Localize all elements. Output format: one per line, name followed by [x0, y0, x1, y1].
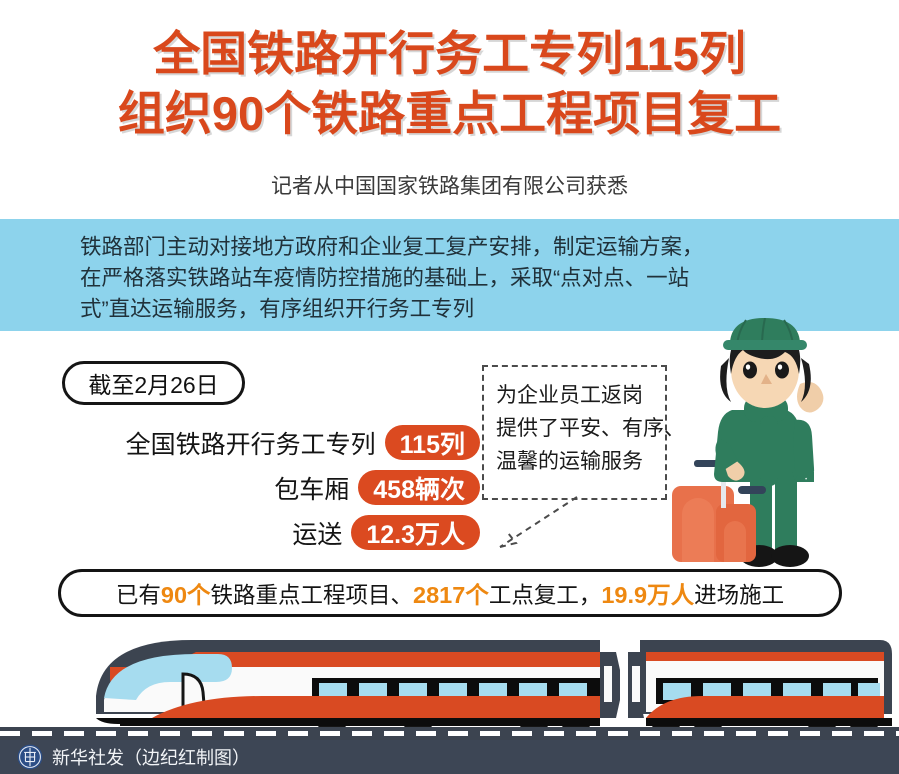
- train-svg: [0, 630, 899, 740]
- page-subtitle: 记者从中国国家铁路集团有限公司获悉: [0, 172, 899, 202]
- stat-row: 全国铁路开行务工专列 115列: [60, 420, 480, 465]
- infographic-poster: 全国铁路开行务工专列115列 组织90个铁路重点工程项目复工 记者从中国国家铁路…: [0, 0, 899, 774]
- footer-credit: 新华社发（边纪红制图）: [52, 744, 250, 770]
- footer-bar: 新华社发（边纪红制图）: [0, 740, 899, 774]
- speech-bubble: 为企业员工返岗 提供了平安、有序、 温馨的运输服务: [482, 365, 667, 500]
- as-of-date-label: 截至2月26日: [88, 366, 218, 400]
- result-highlight-value: 2817个: [413, 582, 489, 608]
- results-summary-text: 已有90个铁路重点工程项目、2817个工点复工，19.9万人进场施工: [116, 576, 784, 610]
- intro-line-1: 铁路部门主动对接地方政府和企业复工复产安排，制定运输方案，: [80, 232, 860, 263]
- result-highlight-value: 90个: [161, 582, 211, 608]
- result-text-segment: 工点复工，: [489, 583, 602, 608]
- bubble-line-3: 温馨的运输服务: [496, 445, 685, 478]
- stat-value-badge: 115列: [385, 425, 480, 460]
- track-dashes: [0, 731, 899, 736]
- stat-label: 全国铁路开行务工专列: [126, 425, 376, 461]
- stat-value-badge: 12.3万人: [351, 515, 480, 550]
- stat-value-badge: 458辆次: [358, 470, 480, 505]
- traveler-illustration: [660, 318, 899, 570]
- intro-band: 铁路部门主动对接地方政府和企业复工复产安排，制定运输方案， 在严格落实铁路站车疫…: [0, 219, 899, 331]
- speech-bubble-tail-icon: [482, 495, 602, 555]
- stats-list: 全国铁路开行务工专列 115列 包车厢 458辆次 运送 12.3万人: [60, 420, 480, 555]
- intro-paragraph: 铁路部门主动对接地方政府和企业复工复产安排，制定运输方案， 在严格落实铁路站车疫…: [80, 232, 860, 325]
- as-of-date-badge: 截至2月26日: [62, 361, 245, 405]
- stat-label: 包车厢: [274, 470, 349, 506]
- title-line-2: 组织90个铁路重点工程项目复工: [0, 84, 899, 144]
- xinhua-emblem-icon: [17, 744, 43, 770]
- bubble-line-1: 为企业员工返岗: [496, 379, 685, 412]
- result-text-segment: 铁路重点工程项目、: [211, 583, 414, 608]
- train-illustration: [0, 630, 899, 740]
- page-title: 全国铁路开行务工专列115列 组织90个铁路重点工程项目复工: [0, 24, 899, 144]
- results-summary-bar: 已有90个铁路重点工程项目、2817个工点复工，19.9万人进场施工: [58, 569, 842, 617]
- stat-label: 运送: [292, 515, 342, 551]
- result-text-segment: 已有: [116, 583, 161, 608]
- stat-row: 运送 12.3万人: [60, 510, 480, 555]
- title-line-1: 全国铁路开行务工专列115列: [0, 24, 899, 84]
- result-highlight-value: 19.9万人: [601, 582, 694, 608]
- speech-bubble-text: 为企业员工返岗 提供了平安、有序、 温馨的运输服务: [496, 379, 685, 478]
- result-text-segment: 进场施工: [694, 583, 784, 608]
- railway-track: [0, 727, 899, 740]
- bubble-line-2: 提供了平安、有序、: [496, 412, 685, 445]
- intro-line-2: 在严格落实铁路站车疫情防控措施的基础上，采取“点对点、一站: [80, 263, 860, 294]
- stat-row: 包车厢 458辆次: [60, 465, 480, 510]
